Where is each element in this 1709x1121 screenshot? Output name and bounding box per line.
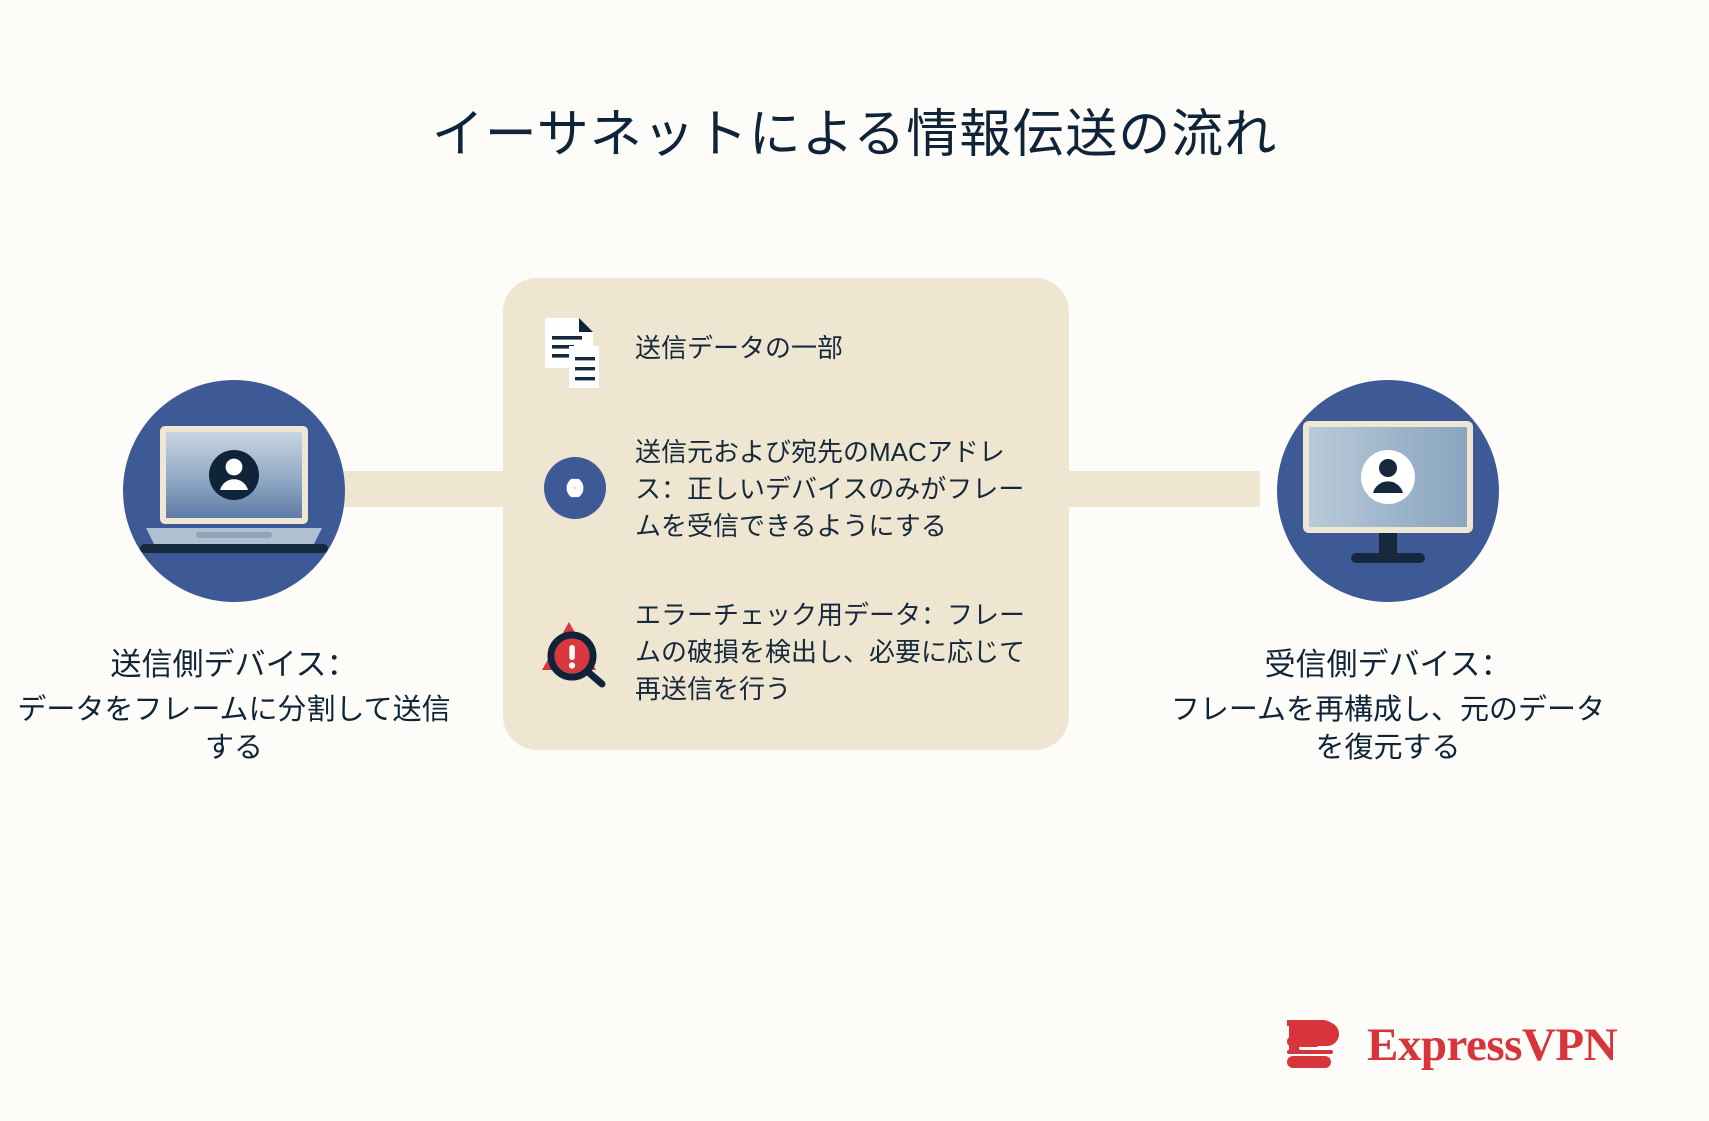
receiver-disc bbox=[1277, 380, 1499, 602]
receiver-device-group: 受信側デバイス： フレームを再構成し、元のデータを復元する bbox=[1158, 380, 1618, 768]
monitor-user-icon bbox=[1295, 415, 1481, 567]
panel-row-text: 送信データの一部 bbox=[635, 316, 843, 367]
expressvpn-mark-icon bbox=[1285, 1012, 1351, 1078]
sender-caption-body: データをフレームに分割して送信する bbox=[4, 691, 464, 768]
sender-caption-heading: 送信側デバイス： bbox=[4, 646, 464, 685]
receiver-caption-body: フレームを再構成し、元のデータを復元する bbox=[1158, 691, 1618, 768]
expressvpn-logo-text: ExpressVPN bbox=[1367, 1022, 1617, 1069]
sender-disc bbox=[123, 380, 345, 602]
panel-row-error-check: エラーチェック用データ：フレームの破損を検出し、必要に応じて再送信を行う bbox=[537, 595, 1039, 708]
panel-row-mac-address: 送信元および宛先のMACアドレス：正しいデバイスのみがフレームを受信できるように… bbox=[537, 432, 1039, 545]
link-icon bbox=[537, 456, 613, 520]
receiver-caption-heading: 受信側デバイス： bbox=[1158, 646, 1618, 685]
panel-row-text: エラーチェック用データ：フレームの破損を検出し、必要に応じて再送信を行う bbox=[635, 595, 1039, 708]
laptop-user-icon bbox=[136, 416, 332, 566]
frame-contents-panel: 送信データの一部 送信元および宛先のMACアドレス：正しいデバイスのみがフレーム… bbox=[503, 278, 1069, 750]
panel-row-payload: 送信データの一部 bbox=[537, 316, 1039, 390]
document-icon bbox=[537, 316, 613, 390]
page-title: イーサネットによる情報伝送の流れ bbox=[0, 92, 1709, 167]
expressvpn-logo: ExpressVPN bbox=[1285, 1012, 1617, 1078]
sender-device-group: 送信側デバイス： データをフレームに分割して送信する bbox=[4, 380, 464, 768]
error-check-icon bbox=[537, 614, 613, 688]
panel-row-text: 送信元および宛先のMACアドレス：正しいデバイスのみがフレームを受信できるように… bbox=[635, 432, 1039, 545]
